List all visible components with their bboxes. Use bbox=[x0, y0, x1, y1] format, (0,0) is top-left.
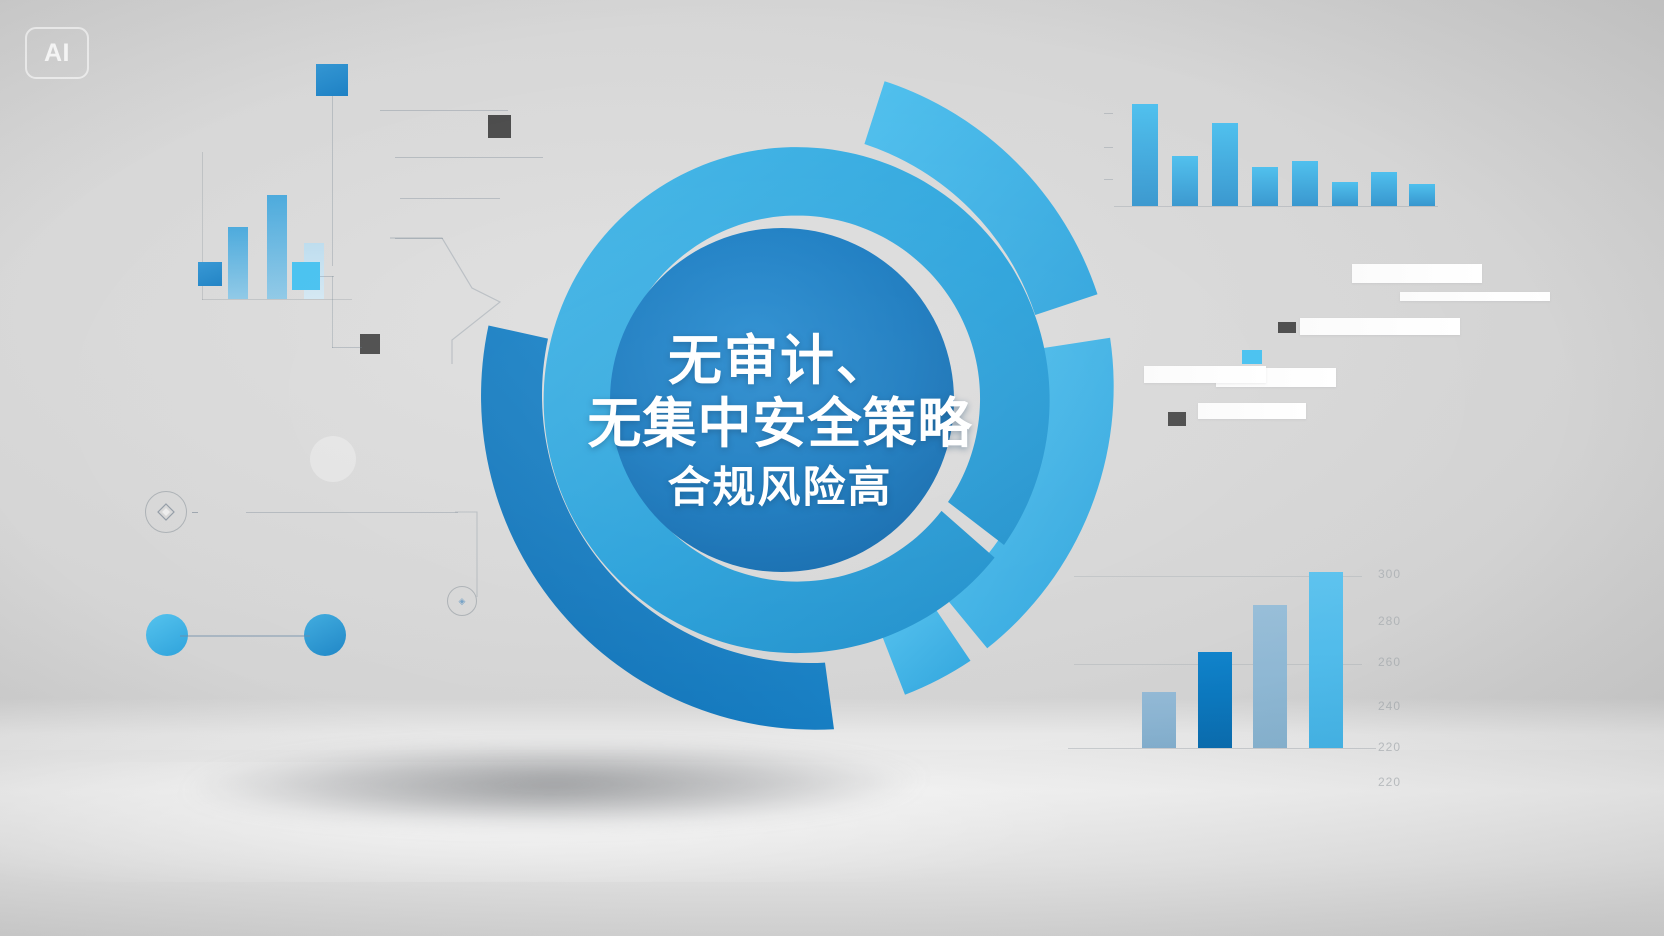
right-bottom-bar-chart bbox=[1126, 560, 1376, 748]
right-top-bar-chart bbox=[1128, 96, 1438, 206]
square-blue-top bbox=[316, 64, 348, 96]
long-connector-line bbox=[246, 512, 458, 513]
rt-bar-6 bbox=[1332, 182, 1358, 206]
connector-line-cyan-out bbox=[320, 276, 334, 277]
headline-line-3: 合规风险高 bbox=[530, 464, 1030, 514]
circle-drop-shadow bbox=[21, 748, 938, 840]
white-bar-6-marker bbox=[1168, 412, 1186, 426]
rt-bar-5 bbox=[1292, 161, 1318, 206]
mini-bar-2 bbox=[228, 227, 248, 299]
white-bar-3-marker bbox=[1278, 322, 1296, 333]
white-bar-5 bbox=[1144, 366, 1266, 383]
diamond-node bbox=[145, 491, 187, 533]
rbc-axis-label-4: 220 bbox=[1378, 740, 1401, 754]
ghost-circle bbox=[310, 436, 356, 482]
headline-line-2: 无集中安全策略 bbox=[530, 393, 1030, 456]
rt-bar-2 bbox=[1172, 156, 1198, 206]
rt-bar-4 bbox=[1252, 167, 1278, 206]
rt-baseline bbox=[1114, 206, 1438, 207]
dashed-connector bbox=[192, 512, 244, 513]
headline-block: 无审计、 无集中安全策略 合规风险高 bbox=[530, 330, 1030, 514]
square-cyan-mid bbox=[292, 262, 320, 290]
mini-bar-3 bbox=[267, 195, 287, 299]
white-bar-3 bbox=[1300, 318, 1460, 335]
white-bar-6 bbox=[1198, 403, 1306, 419]
rbc-axis-label-0: 300 bbox=[1378, 567, 1401, 581]
connector-line-to-dark bbox=[332, 347, 362, 348]
rt-bar-3 bbox=[1212, 123, 1238, 206]
white-bar-4-marker bbox=[1242, 350, 1262, 364]
white-bar-1 bbox=[1352, 264, 1482, 283]
diamond-icon bbox=[156, 502, 176, 522]
rt-bar-8 bbox=[1409, 184, 1435, 206]
ai-watermark-badge: AI bbox=[25, 27, 89, 79]
rt-ytick-3 bbox=[1104, 179, 1113, 180]
rt-ytick-1 bbox=[1104, 113, 1113, 114]
rbc-axis-label-1: 280 bbox=[1378, 614, 1401, 628]
connector-line-vertical-2 bbox=[332, 276, 333, 348]
rbc-axis-label-5: 220 bbox=[1378, 775, 1401, 789]
mini-chart-x-axis bbox=[202, 299, 352, 300]
square-blue-left bbox=[198, 262, 222, 286]
rbc-axis-label-3: 240 bbox=[1378, 699, 1401, 713]
rbc-baseline bbox=[1068, 748, 1376, 749]
headline-line-1: 无审计、 bbox=[530, 330, 1030, 393]
rbc-bar-2 bbox=[1198, 652, 1232, 748]
dot-right bbox=[304, 614, 346, 656]
rbc-bar-1 bbox=[1142, 692, 1176, 748]
slide-canvas: ◈ bbox=[0, 0, 1664, 936]
rbc-bar-3 bbox=[1253, 605, 1287, 748]
rbc-bar-4 bbox=[1309, 572, 1343, 748]
rt-ytick-2 bbox=[1104, 147, 1113, 148]
rt-bar-1 bbox=[1132, 104, 1158, 206]
connector-line-vertical-1 bbox=[332, 96, 333, 266]
rbc-axis-label-2: 260 bbox=[1378, 655, 1401, 669]
white-bar-2 bbox=[1400, 292, 1550, 301]
dot-connector-line bbox=[180, 635, 310, 637]
square-dark-lower bbox=[360, 334, 380, 354]
rt-bar-7 bbox=[1371, 172, 1397, 206]
